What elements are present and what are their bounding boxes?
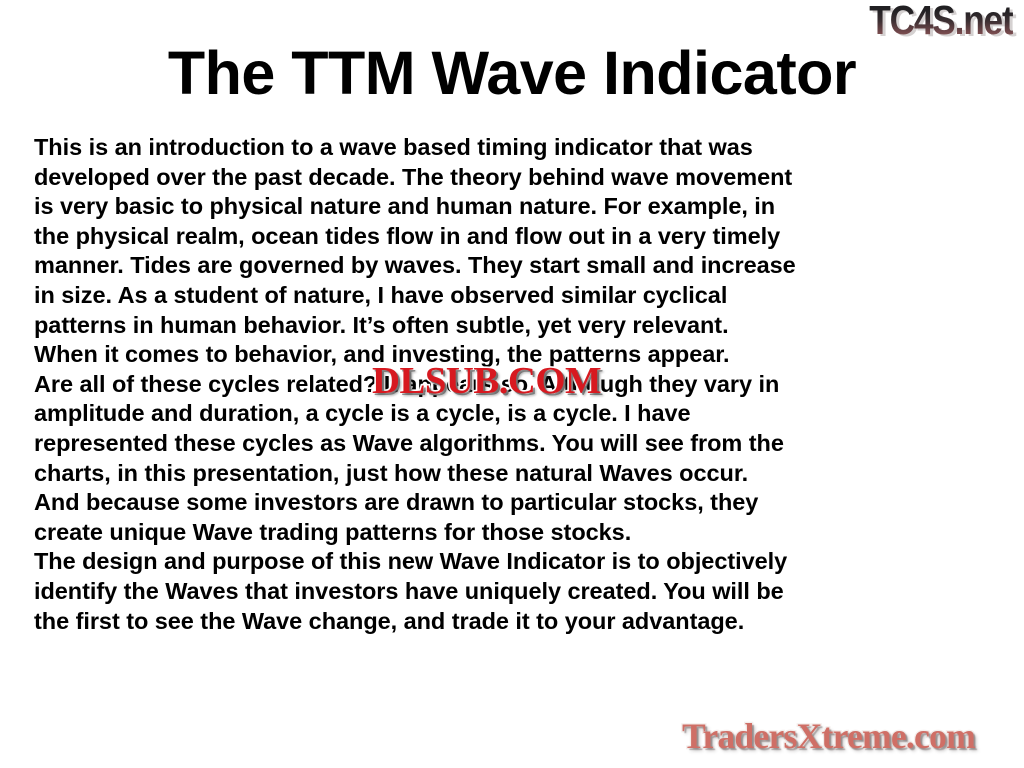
body-line: patterns in human behavior. It’s often s… bbox=[34, 311, 998, 341]
body-line: identify the Waves that investors have u… bbox=[34, 577, 998, 607]
body-line: create unique Wave trading patterns for … bbox=[34, 518, 998, 548]
body-line: charts, in this presentation, just how t… bbox=[34, 459, 998, 489]
body-line: represented these cycles as Wave algorit… bbox=[34, 429, 998, 459]
body-line: in size. As a student of nature, I have … bbox=[34, 281, 998, 311]
body-line: And because some investors are drawn to … bbox=[34, 488, 998, 518]
body-line: manner. Tides are governed by waves. The… bbox=[34, 251, 998, 281]
body-line: the first to see the Wave change, and tr… bbox=[34, 607, 998, 637]
dlsub-watermark: DLSUB.COM bbox=[372, 362, 601, 400]
body-line: This is an introduction to a wave based … bbox=[34, 133, 998, 163]
tc4s-net-logo: TC4S.net bbox=[869, 0, 1012, 42]
body-line: amplitude and duration, a cycle is a cyc… bbox=[34, 399, 998, 429]
page-title: The TTM Wave Indicator bbox=[0, 40, 1024, 106]
body-line: is very basic to physical nature and hum… bbox=[34, 192, 998, 222]
body-line: The design and purpose of this new Wave … bbox=[34, 547, 998, 577]
body-line: developed over the past decade. The theo… bbox=[34, 163, 998, 193]
tradersxtreme-logo: TradersXtreme.com bbox=[682, 716, 975, 756]
body-line: the physical realm, ocean tides flow in … bbox=[34, 222, 998, 252]
slide-canvas: TC4S.net TC4S.net The TTM Wave Indicator… bbox=[0, 0, 1024, 768]
